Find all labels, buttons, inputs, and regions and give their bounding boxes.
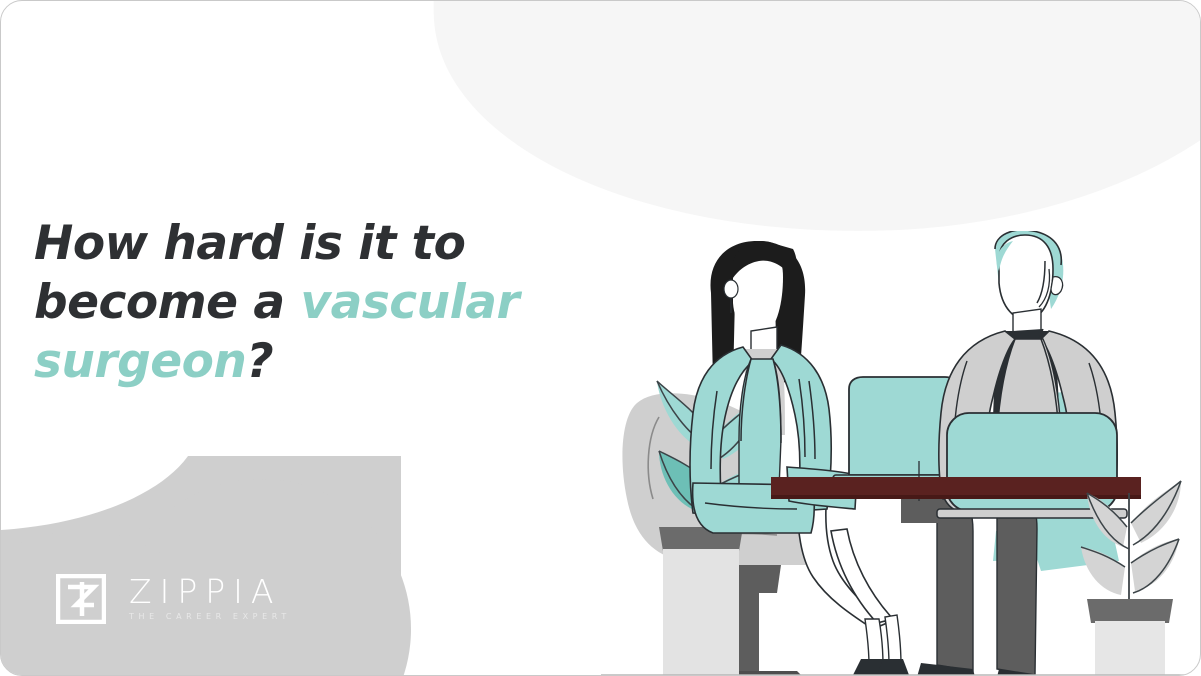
headline-text-trailing: ? — [246, 334, 273, 389]
hero-card: How hard is it to become a vascular surg… — [0, 0, 1201, 676]
plant-right — [1081, 481, 1181, 676]
logo-wordmark: ZIPPIA — [129, 575, 291, 609]
logo-tagline: THE CAREER EXPERT — [129, 610, 291, 624]
zippia-logo[interactable]: ZIPPIA THE CAREER EXPERT — [56, 573, 291, 624]
zippia-z-square-icon — [56, 574, 106, 624]
desk — [771, 477, 1141, 499]
office-illustration — [601, 231, 1201, 676]
page-title: How hard is it to become a vascular surg… — [34, 214, 574, 391]
